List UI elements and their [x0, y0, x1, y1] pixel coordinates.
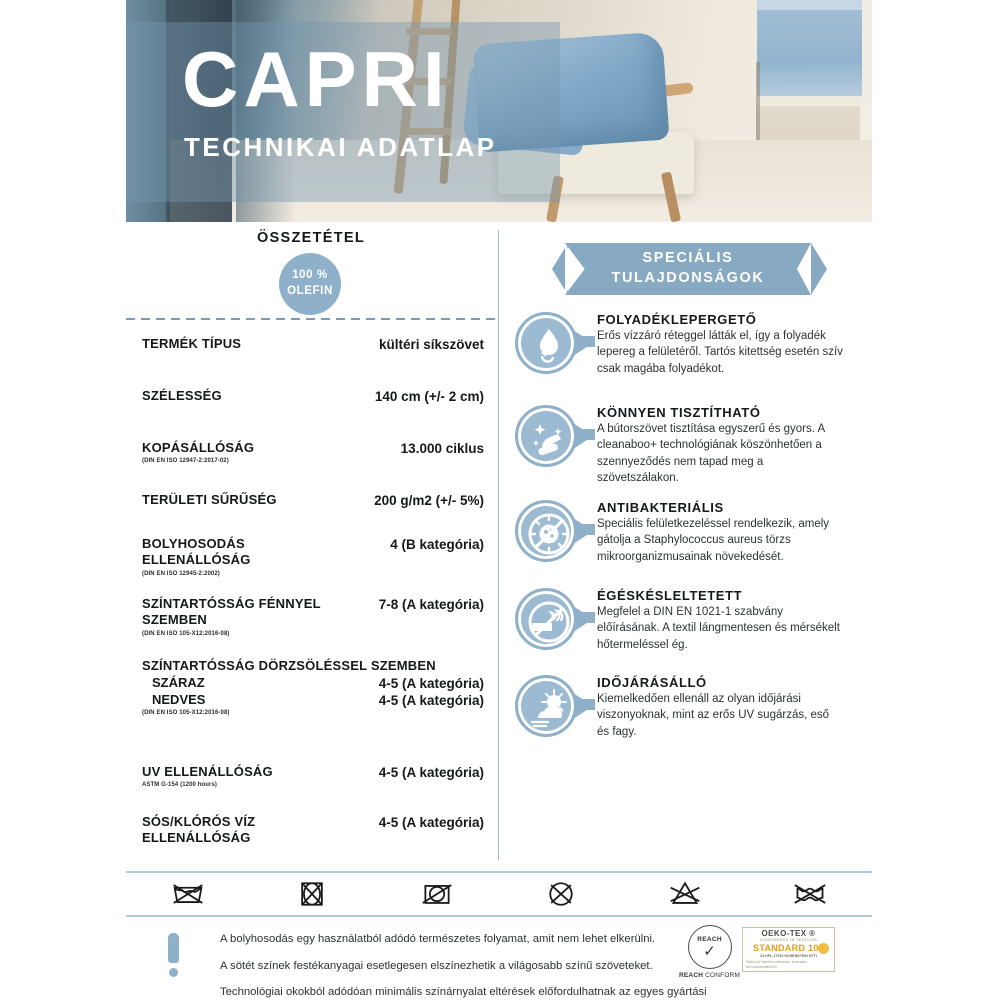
dashed-divider: [126, 318, 498, 320]
banner-line-1: SPECIÁLIS: [643, 249, 734, 269]
water-drop-icon: [515, 312, 577, 374]
spec-value: 13.000 ciklus: [401, 440, 484, 456]
banner-right-arrow: [811, 243, 827, 295]
do-not-iron-icon: [665, 877, 705, 911]
oeko-tagline: CONFIDENCE IN TEXTILES: [760, 938, 817, 942]
spec-row: UV ELLENÁLLÓSÁGASTM G-154 (1200 hours)4-…: [126, 764, 498, 790]
spec-value: kültéri síkszövet: [379, 336, 484, 352]
feature-description: Speciális felületkezeléssel rendelkezik,…: [597, 516, 843, 565]
spec-row: SZÉLESSÉG140 cm (+/- 2 cm): [126, 388, 498, 404]
do-not-dry-clean-icon: [541, 877, 581, 911]
feature-body: IDŐJÁRÁSÁLLÓKiemelkedően ellenáll az oly…: [591, 675, 843, 740]
footer-note: A sötét színek festékanyagai esetlegesen…: [220, 959, 740, 974]
feature-description: Megfelel a DIN EN 1021-1 szabvány előírá…: [597, 604, 843, 653]
hero-banner: CAPRI TECHNIKAI ADATLAP: [126, 0, 872, 222]
feature-title: IDŐJÁRÁSÁLLÓ: [597, 675, 843, 690]
feature-body: ÉGÉSKÉSLELTETETTMegfelel a DIN EN 1021-1…: [591, 588, 843, 653]
feature-title: ÉGÉSKÉSLELTETETT: [597, 588, 843, 603]
composition-material: OLEFIN: [287, 284, 333, 300]
spec-value: 4-5 (A kategória): [379, 675, 484, 691]
spec-label: SZÉLESSÉG: [142, 388, 222, 404]
care-symbol-row: [126, 873, 872, 915]
banner-notch-left: [565, 243, 579, 295]
reach-circle: REACH ✓: [688, 925, 732, 969]
oeko-title: OEKO-TEX ®: [762, 929, 816, 938]
spec-row: KOPÁSÁLLÓSÁG(DIN EN ISO 12947-2:2017-02)…: [126, 440, 498, 466]
datasheet-page: CAPRI TECHNIKAI ADATLAP ÖSSZETÉTEL 100 %…: [0, 0, 1000, 1000]
cleaning-hand-icon: [515, 405, 577, 467]
spec-label: SZÍNTARTÓSSÁG DÖRZSÖLÉSSEL SZEMBEN: [142, 658, 484, 674]
feature-icon-wrap: [515, 312, 591, 374]
feature-description: A bútorszövet tisztítása egyszerű és gyo…: [597, 421, 843, 486]
do-not-wring-icon: [790, 877, 830, 911]
spec-value: 140 cm (+/- 2 cm): [375, 388, 484, 404]
spec-value: 4-5 (A kategória): [379, 814, 484, 830]
reach-caption-light: CONFORM: [703, 972, 740, 979]
feature-title: KÖNNYEN TISZTÍTHATÓ: [597, 405, 843, 420]
spec-subrow: NEDVES4-5 (A kategória): [142, 692, 484, 708]
spec-row: TERMÉK TÍPUSkültéri síkszövet: [126, 336, 498, 352]
spec-label: TERÜLETI SŰRŰSÉG: [142, 492, 277, 508]
antibacterial-icon: [515, 500, 577, 562]
spec-label: TERMÉK TÍPUS: [142, 336, 241, 352]
feature-body: ANTIBAKTERIÁLISSpeciális felületkezeléss…: [591, 500, 843, 565]
feature-item: IDŐJÁRÁSÁLLÓKiemelkedően ellenáll az oly…: [515, 675, 843, 740]
spec-standard: (DIN EN ISO 105-X12:2016-08): [142, 631, 321, 639]
feature-icon-wrap: [515, 675, 591, 737]
spec-label: KOPÁSÁLLÓSÁG(DIN EN ISO 12947-2:2017-02): [142, 440, 254, 466]
banner-notch-right: [797, 243, 811, 295]
feature-item: ANTIBAKTERIÁLISSpeciális felületkezeléss…: [515, 500, 843, 565]
reach-conform-logo: REACH ✓ REACH CONFORM: [679, 925, 740, 979]
feature-body: KÖNNYEN TISZTÍTHATÓA bútorszövet tisztít…: [591, 405, 843, 486]
do-not-bleach-icon: [292, 877, 332, 911]
feature-item: FOLYADÉKLEPERGETŐErős vízzáró réteggel l…: [515, 312, 843, 377]
feature-title: FOLYADÉKLEPERGETŐ: [597, 312, 843, 327]
do-not-tumble-dry-icon: [417, 877, 457, 911]
oeko-sun-icon: [818, 943, 829, 954]
spec-sublabel: SZÁRAZ: [152, 675, 205, 691]
reach-word: REACH: [697, 936, 722, 943]
spec-standard: (DIN EN ISO 105-X12:2016-08): [142, 710, 484, 716]
banner-line-2: TULAJDONSÁGOK: [612, 269, 765, 289]
feature-icon-wrap: [515, 405, 591, 467]
oeko-tex-logo: OEKO-TEX ® CONFIDENCE IN TEXTILES STANDA…: [742, 927, 835, 972]
footer-note: Technológiai okokból adódóan minimális s…: [220, 985, 740, 1000]
feature-item: ÉGÉSKÉSLELTETETTMegfelel a DIN EN 1021-1…: [515, 588, 843, 653]
reach-caption: REACH CONFORM: [679, 972, 740, 979]
exclamation-icon: [168, 933, 180, 977]
spec-label: SÓS/KLÓRÓS VÍZELLENÁLLÓSÁG: [142, 814, 255, 847]
special-properties-banner: SPECIÁLIS TULAJDONSÁGOK: [565, 243, 811, 295]
feature-body: FOLYADÉKLEPERGETŐErős vízzáró réteggel l…: [591, 312, 843, 377]
care-row-bottom-rule: [126, 915, 872, 917]
footer-notes: A bolyhosodás egy használatból adódó ter…: [220, 932, 740, 1000]
spec-standard: ASTM G-154 (1200 hours): [142, 782, 273, 790]
feature-description: Erős vízzáró réteggel látták el, így a f…: [597, 328, 843, 377]
spec-value: 4 (B kategória): [390, 536, 484, 552]
spec-value: 4-5 (A kategória): [379, 764, 484, 780]
feature-title: ANTIBAKTERIÁLIS: [597, 500, 843, 515]
feature-description: Kiemelkedően ellenáll az olyan időjárási…: [597, 691, 843, 740]
feature-icon-wrap: [515, 500, 591, 562]
spec-value: 4-5 (A kategória): [379, 692, 484, 708]
spec-row: BOLYHOSODÁSELLENÁLLÓSÁG(DIN EN ISO 12945…: [126, 536, 498, 578]
feature-icon-wrap: [515, 588, 591, 650]
spec-row-rubbing: SZÍNTARTÓSSÁG DÖRZSÖLÉSSEL SZEMBENSZÁRAZ…: [126, 658, 498, 716]
page-title: CAPRI: [182, 40, 450, 118]
spec-row: SÓS/KLÓRÓS VÍZELLENÁLLÓSÁG4-5 (A kategór…: [126, 814, 498, 847]
oeko-footnote: Tested for harmful substances. www.oeko-…: [746, 960, 831, 970]
spec-value: 7-8 (A kategória): [379, 596, 484, 612]
spec-row: TERÜLETI SŰRŰSÉG200 g/m2 (+/- 5%): [126, 492, 498, 508]
spec-standard: (DIN EN ISO 12945-2:2002): [142, 571, 251, 579]
spec-label: UV ELLENÁLLÓSÁGASTM G-154 (1200 hours): [142, 764, 273, 790]
page-subtitle: TECHNIKAI ADATLAP: [184, 132, 497, 163]
feature-item: KÖNNYEN TISZTÍTHATÓA bútorszövet tisztít…: [515, 405, 843, 486]
reach-check-icon: ✓: [703, 944, 716, 959]
weather-sun-cloud-icon: [515, 675, 577, 737]
spec-subrow: SZÁRAZ4-5 (A kategória): [142, 675, 484, 691]
vertical-divider: [498, 230, 499, 860]
spec-value: 200 g/m2 (+/- 5%): [374, 492, 484, 508]
spec-standard: (DIN EN ISO 12947-2:2017-02): [142, 458, 254, 466]
oeko-standard: STANDARD 100: [753, 943, 824, 953]
reach-caption-bold: REACH: [679, 972, 703, 979]
composition-badge: 100 % OLEFIN: [279, 253, 341, 315]
footer-note: A bolyhosodás egy használatból adódó ter…: [220, 932, 740, 947]
spec-label: BOLYHOSODÁSELLENÁLLÓSÁG(DIN EN ISO 12945…: [142, 536, 251, 578]
spec-row: SZÍNTARTÓSSÁG FÉNNYELSZEMBEN(DIN EN ISO …: [126, 596, 498, 638]
spec-sublabel: NEDVES: [152, 692, 205, 708]
composition-title: ÖSSZETÉTEL: [126, 230, 496, 246]
composition-percent: 100 %: [292, 268, 328, 284]
no-flame-cigarette-icon: [515, 588, 577, 650]
do-not-wash-icon: [168, 877, 208, 911]
oeko-cert-number: 23.HPL.17915 HOHENSTEIN HTTI: [760, 954, 817, 958]
spec-label: SZÍNTARTÓSSÁG FÉNNYELSZEMBEN(DIN EN ISO …: [142, 596, 321, 638]
